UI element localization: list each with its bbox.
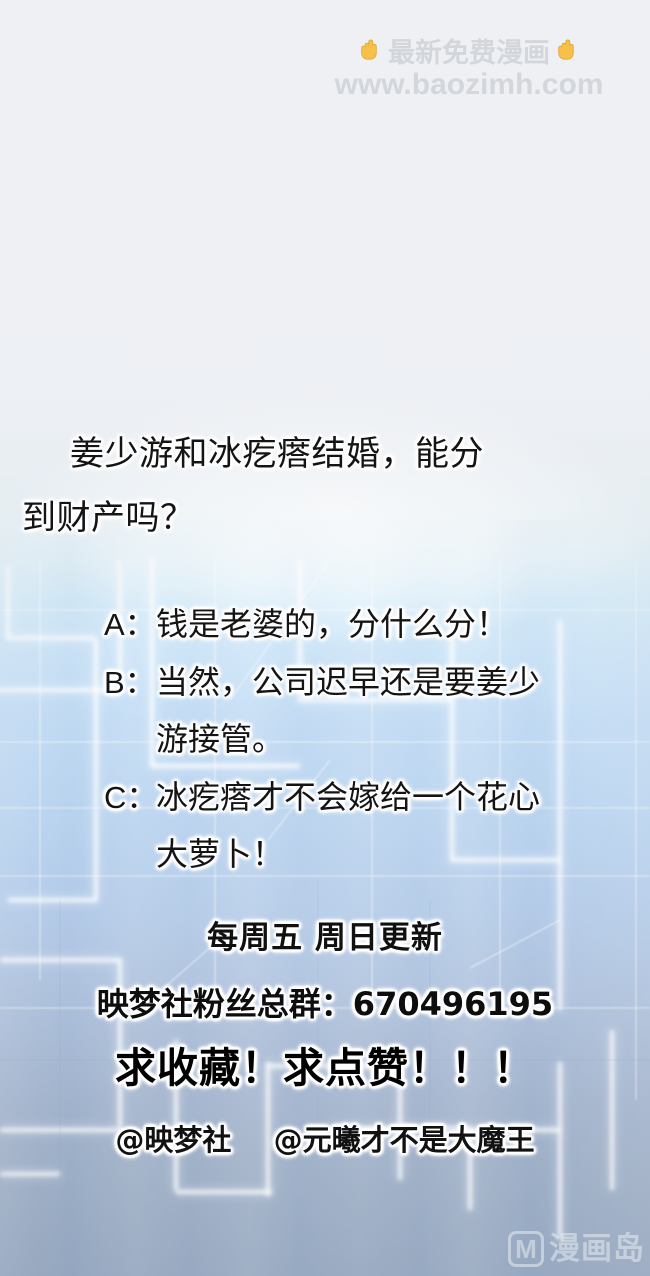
- bottom-watermark-label: 漫画岛: [549, 1234, 645, 1265]
- manhuadao-logo-icon: M: [508, 1231, 544, 1267]
- page-title-line-1: 姜少游和冰疙瘩结婚，能分: [70, 434, 484, 474]
- comic-page: 最新免费漫画 www.baozimh.com 姜少游和冰疙瘩结婚，能分 到财产吗…: [0, 0, 650, 1276]
- poll-option-b-line-1: 当然，公司迟早还是要姜少: [156, 663, 540, 701]
- watermark-promo-row: 最新免费漫画: [357, 32, 581, 68]
- call-to-action: 求收藏！求点赞！！！: [0, 1042, 650, 1094]
- social-handles: @映梦社 @元曦才不是大魔王: [0, 1121, 650, 1159]
- handle-author: @元曦才不是大魔王: [274, 1123, 535, 1157]
- bottom-watermark: M 漫画岛: [508, 1231, 645, 1267]
- poll-option-c-line-1: 冰疙瘩才不会嫁给一个花心: [156, 778, 540, 816]
- page-title: 姜少游和冰疙瘩结婚，能分 到财产吗？: [0, 422, 650, 550]
- page-title-line-2: 到财产吗？: [22, 498, 195, 538]
- poll-option-c-key: C：: [104, 769, 156, 826]
- poll-options-list: A： 钱是老婆的，分什么分！ B： 当然，公司迟早还是要姜少 游接管。 C： 冰…: [0, 596, 650, 884]
- poll-option-a-line-1: 钱是老婆的，分什么分！: [156, 605, 508, 643]
- poll-option-b-text: 当然，公司迟早还是要姜少 游接管。: [156, 654, 614, 768]
- poll-option-c-line-2: 大萝卜！: [156, 835, 284, 873]
- update-schedule: 每周五 周日更新: [0, 918, 650, 958]
- poll-option-b[interactable]: B： 当然，公司迟早还是要姜少 游接管。: [104, 654, 614, 768]
- poll-option-a-text: 钱是老婆的，分什么分！: [156, 596, 614, 653]
- poll-option-a-key: A：: [104, 596, 156, 653]
- watermark-promo-text: 最新免费漫画: [388, 31, 550, 70]
- fan-group-line: 映梦社粉丝总群：670496195: [0, 983, 650, 1025]
- poll-option-c-text: 冰疙瘩才不会嫁给一个花心 大萝卜！: [156, 769, 614, 883]
- poll-option-b-line-2: 游接管。: [156, 720, 284, 758]
- top-watermark-banner: 最新免费漫画 www.baozimh.com: [310, 28, 628, 106]
- pointing-down-hand-icon-left: [357, 37, 384, 64]
- watermark-site-url: www.baozimh.com: [335, 68, 604, 102]
- handle-studio: @映梦社: [115, 1123, 231, 1157]
- poll-option-c[interactable]: C： 冰疙瘩才不会嫁给一个花心 大萝卜！: [104, 769, 614, 883]
- poll-option-b-key: B：: [104, 654, 156, 711]
- poll-option-a[interactable]: A： 钱是老婆的，分什么分！: [104, 596, 614, 653]
- pointing-down-hand-icon-right: [554, 37, 581, 64]
